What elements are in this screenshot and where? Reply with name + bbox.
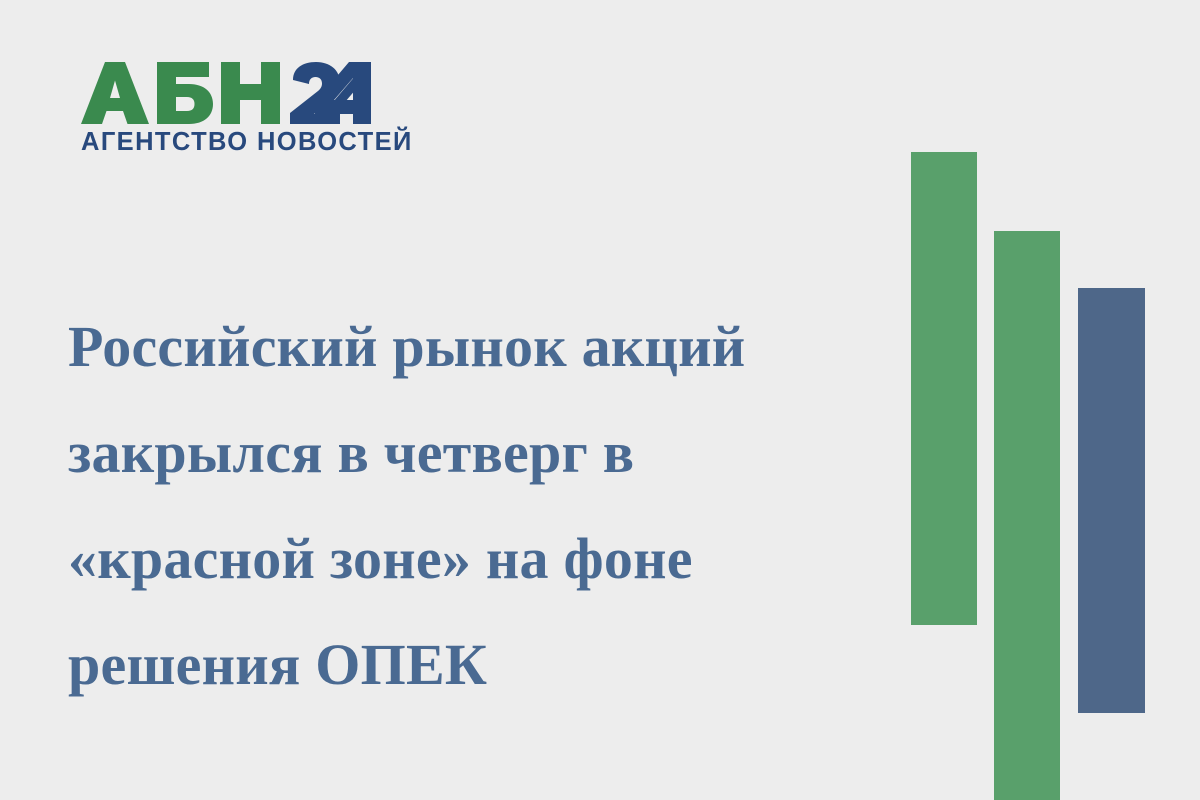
chart-bar-2 bbox=[994, 231, 1060, 800]
chart-bar-1 bbox=[911, 152, 977, 625]
site-logo[interactable]: АГЕНТСТВО НОВОСТЕЙ bbox=[81, 62, 371, 156]
logo-letter-b-icon bbox=[157, 62, 213, 124]
logo-letter-a-icon bbox=[81, 62, 149, 124]
headline-line-1: Российский рынок акций bbox=[68, 294, 868, 400]
headline-line-2: закрылся в четверг в bbox=[68, 400, 868, 506]
headline: Российский рынок акций закрылся в четвер… bbox=[68, 294, 868, 718]
headline-line-3: «красной зоне» на фоне bbox=[68, 506, 868, 612]
logo-letter-n-icon bbox=[221, 62, 280, 124]
logo-tagline: АГЕНТСТВО НОВОСТЕЙ bbox=[81, 130, 371, 156]
poster-canvas: АГЕНТСТВО НОВОСТЕЙ Российский рынок акци… bbox=[0, 0, 1200, 800]
chart-bar-3 bbox=[1078, 288, 1145, 713]
logo-wordmark bbox=[81, 62, 371, 124]
headline-line-4: решения ОПЕК bbox=[68, 612, 868, 718]
